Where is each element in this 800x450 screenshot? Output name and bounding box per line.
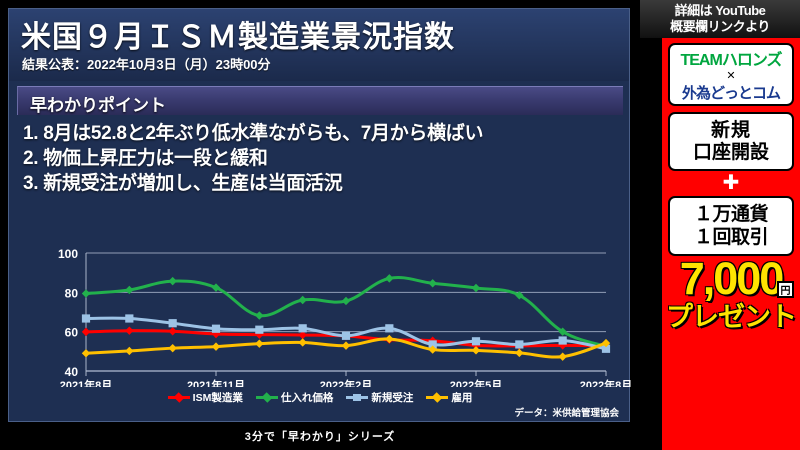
promo-present-label: プレゼント	[662, 302, 800, 332]
page-title: 米国９月ＩＳＭ製造業景況指数	[21, 12, 455, 56]
promo-sidebar: 詳細は YouTube 概要欄リンクより TEAMハロンズ ✕ 外為どっとコム …	[640, 0, 800, 450]
screenshot-root: 米国９月ＩＳＭ製造業景況指数 結果公表：2022年10月3日（月）23時00分 …	[0, 0, 800, 450]
legend-item: ISM製造業	[168, 390, 243, 405]
currency-trade-line2: １回取引	[694, 226, 768, 249]
legend-label: 仕入れ価格	[281, 390, 334, 405]
legend-item: 雇用	[426, 390, 472, 405]
currency-trade-box[interactable]: １万通貨 １回取引	[668, 196, 794, 256]
legend-label: 新規受注	[371, 390, 413, 405]
list-item: 3. 新規受注が増加し、生産は当面活況	[9, 171, 631, 196]
legend-item: 新規受注	[346, 390, 413, 405]
legend-swatch-icon	[346, 393, 368, 402]
team-brand-name: TEAMハロンズ	[680, 46, 781, 70]
new-account-box[interactable]: 新規 口座開設	[668, 112, 794, 171]
section-header-quick-points: 早わかりポイント	[17, 86, 623, 115]
svg-text:80: 80	[65, 286, 79, 300]
new-account-line2: 口座開設	[693, 142, 769, 164]
svg-text:2022年5月: 2022年5月	[450, 378, 503, 387]
svg-text:2021年8月: 2021年8月	[60, 378, 113, 387]
legend-label: ISM製造業	[193, 390, 243, 405]
svg-text:2022年8月: 2022年8月	[580, 378, 631, 387]
svg-text:100: 100	[58, 247, 78, 261]
yen-unit-badge: 円	[777, 281, 794, 298]
sidebar-header-line1: 詳細は YouTube	[675, 3, 766, 19]
title-block: 米国９月ＩＳＭ製造業景況指数 結果公表：2022年10月3日（月）23時00分	[9, 9, 629, 81]
list-item: 2. 物価上昇圧力は一段と緩和	[9, 146, 631, 171]
release-datetime: 結果公表：2022年10月3日（月）23時00分	[22, 54, 271, 73]
new-account-line1: 新規	[711, 120, 751, 142]
legend-swatch-icon	[168, 393, 190, 402]
footer-caption: 3分で「早わかり」シリーズ	[0, 428, 640, 444]
slide-card: 米国９月ＩＳＭ製造業景況指数 結果公表：2022年10月3日（月）23時00分 …	[8, 8, 630, 422]
svg-text:2021年11月: 2021年11月	[187, 378, 245, 387]
legend-swatch-icon	[426, 393, 448, 402]
line-chart: 4060801002021年8月2021年11月2022年2月2022年5月20…	[9, 239, 631, 423]
section-header-label: 早わかりポイント	[30, 91, 166, 116]
quick-points-list: 1. 8月は52.8と2年ぶり低水準ながらも、7月から横ばい 2. 物価上昇圧力…	[9, 121, 631, 196]
sidebar-header: 詳細は YouTube 概要欄リンクより	[640, 0, 800, 38]
list-item: 1. 8月は52.8と2年ぶり低水準ながらも、7月から横ばい	[9, 121, 631, 146]
legend-swatch-icon	[256, 393, 278, 402]
svg-text:2022年2月: 2022年2月	[320, 378, 373, 387]
legend-item: 仕入れ価格	[256, 390, 334, 405]
svg-text:40: 40	[65, 365, 79, 379]
partner-brand-name: 外為どっとコム	[682, 82, 780, 103]
sidebar-header-line2: 概要欄リンクより	[670, 19, 770, 35]
plus-icon: ✚	[662, 173, 800, 193]
cross-icon: ✕	[726, 70, 735, 82]
promo-red-panel: TEAMハロンズ ✕ 外為どっとコム 新規 口座開設 ✚ １万通貨 １回取引 7…	[662, 38, 800, 450]
main-panel: 米国９月ＩＳＭ製造業景況指数 結果公表：2022年10月3日（月）23時00分 …	[0, 0, 640, 450]
chart-legend: ISM製造業仕入れ価格新規受注雇用	[9, 390, 631, 405]
team-brand-box: TEAMハロンズ ✕ 外為どっとコム	[668, 43, 794, 106]
currency-trade-line1: １万通貨	[694, 203, 768, 226]
legend-label: 雇用	[451, 390, 472, 405]
chart-source-note: データ：米供給管理協会	[514, 405, 619, 419]
chart-canvas: 4060801002021年8月2021年11月2022年2月2022年5月20…	[9, 239, 631, 387]
svg-text:60: 60	[65, 326, 79, 340]
